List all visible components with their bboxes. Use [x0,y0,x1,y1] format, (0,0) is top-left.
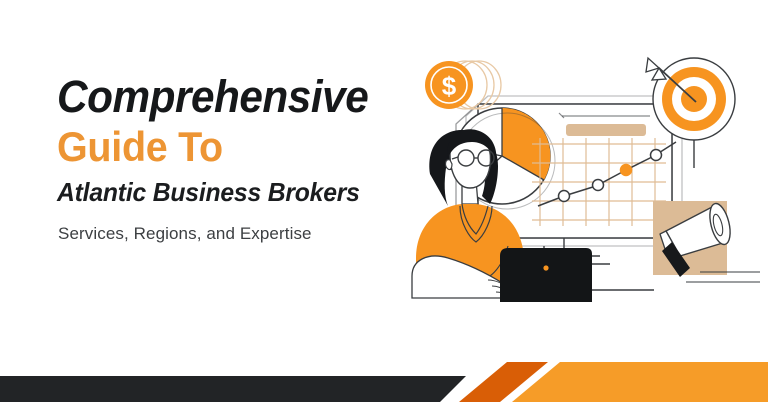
footer-decoration [0,342,768,402]
business-analytics-illustration: $ [404,46,760,314]
dark-bar [0,376,466,402]
promo-banner: Comprehensive Guide To Atlantic Business… [0,0,768,402]
screen-header-bar [559,113,650,136]
laptop-icon [500,248,592,302]
chart-point-highlight [621,165,632,176]
chart-point-3 [651,150,662,161]
svg-text:$: $ [442,71,457,101]
coin-stack-icon: $ [425,61,501,109]
laptop-logo-dot [543,265,548,270]
megaphone-icon [653,201,734,277]
page-tagline: Services, Regions, and Expertise [58,222,407,246]
page-subtitle: Atlantic Business Brokers [57,175,390,209]
page-title: Comprehensive [57,72,386,122]
chart-point-1 [559,191,570,202]
page-title-accent: Guide To [57,122,386,172]
headline-block: Comprehensive Guide To Atlantic Business… [57,72,407,246]
chart-point-2 [593,180,604,191]
orange-bar [512,362,768,402]
